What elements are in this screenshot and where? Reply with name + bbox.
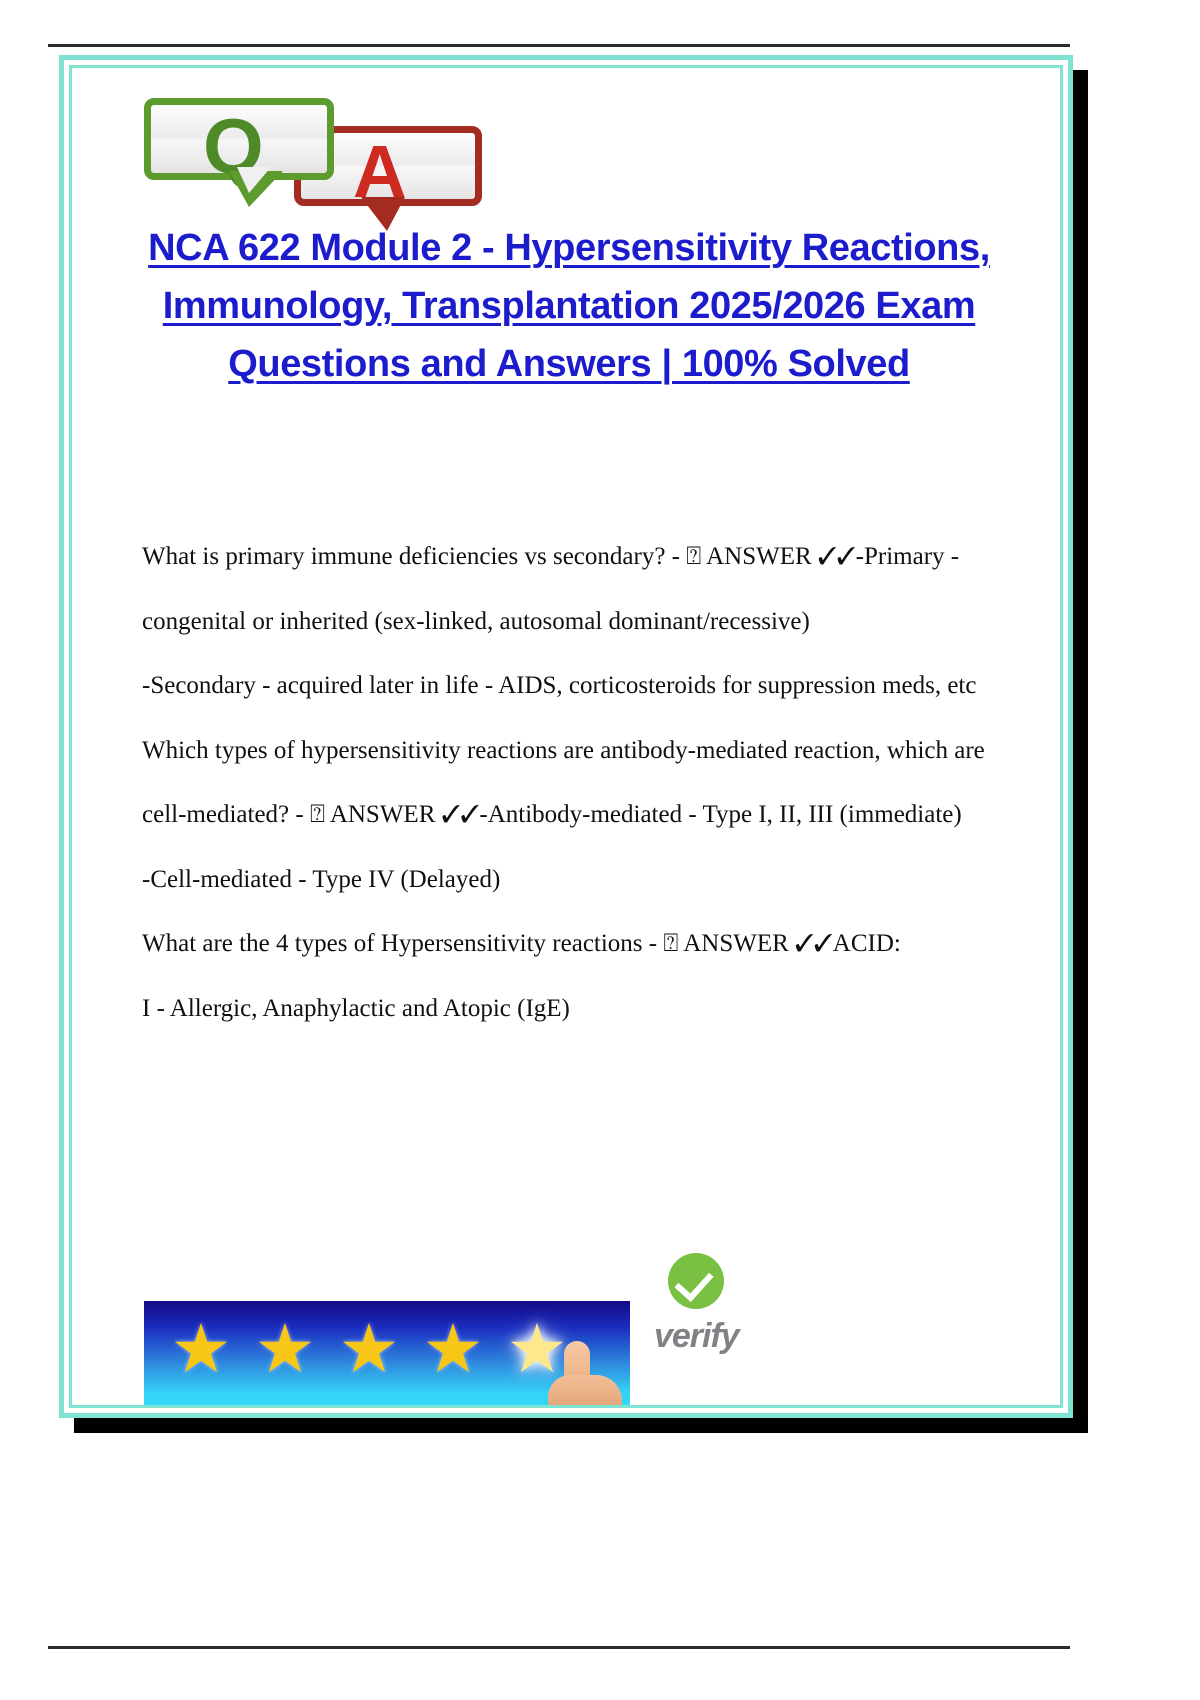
star-rating-banner: ★ ★ ★ ★ ★ (144, 1301, 630, 1405)
star-icon: ★ (338, 1323, 400, 1383)
document-body: What is primary immune deficiencies vs s… (136, 525, 1002, 1041)
pointing-hand-icon (542, 1341, 628, 1405)
top-edge-rule (48, 44, 1070, 47)
document-page: A Q NCA 622 Module 2 - Hypersensitivity … (0, 0, 1200, 1700)
qa-paragraph: What is primary immune deficiencies vs s… (142, 525, 996, 654)
qa-paragraph: I - Allergic, Anaphylactic and Atopic (I… (142, 977, 996, 1042)
teal-outer-frame: A Q NCA 622 Module 2 - Hypersensitivity … (59, 55, 1073, 1418)
teal-inner-frame: A Q NCA 622 Module 2 - Hypersensitivity … (69, 65, 1063, 1408)
answer-bubble-tail (361, 197, 405, 231)
star-rating: ★ ★ ★ ★ ★ (170, 1323, 568, 1383)
qa-logo: A Q (144, 98, 484, 216)
hand-knuckle (548, 1375, 622, 1405)
qa-paragraph: Which types of hypersensitivity reaction… (142, 719, 996, 848)
qa-paragraph: -Secondary - acquired later in life - AI… (142, 654, 996, 719)
star-icon: ★ (170, 1323, 232, 1383)
verify-logo: verify (654, 1301, 764, 1405)
green-check-badge-icon (668, 1253, 724, 1309)
verify-label: verify (654, 1317, 739, 1356)
star-icon: ★ (422, 1323, 484, 1383)
qa-paragraph: What are the 4 types of Hypersensitivity… (142, 912, 996, 977)
bottom-edge-rule (48, 1646, 1070, 1649)
page-title: NCA 622 Module 2 - Hypersensitivity Reac… (136, 220, 1002, 393)
page-sheet: A Q NCA 622 Module 2 - Hypersensitivity … (72, 68, 1060, 1405)
star-icon: ★ (254, 1323, 316, 1383)
qa-paragraph: -Cell-mediated - Type IV (Delayed) (142, 848, 996, 913)
verify-footer: ★ ★ ★ ★ ★ ver (144, 1301, 764, 1405)
question-bubble-icon: Q (144, 98, 334, 180)
question-bubble-tail (229, 171, 283, 207)
